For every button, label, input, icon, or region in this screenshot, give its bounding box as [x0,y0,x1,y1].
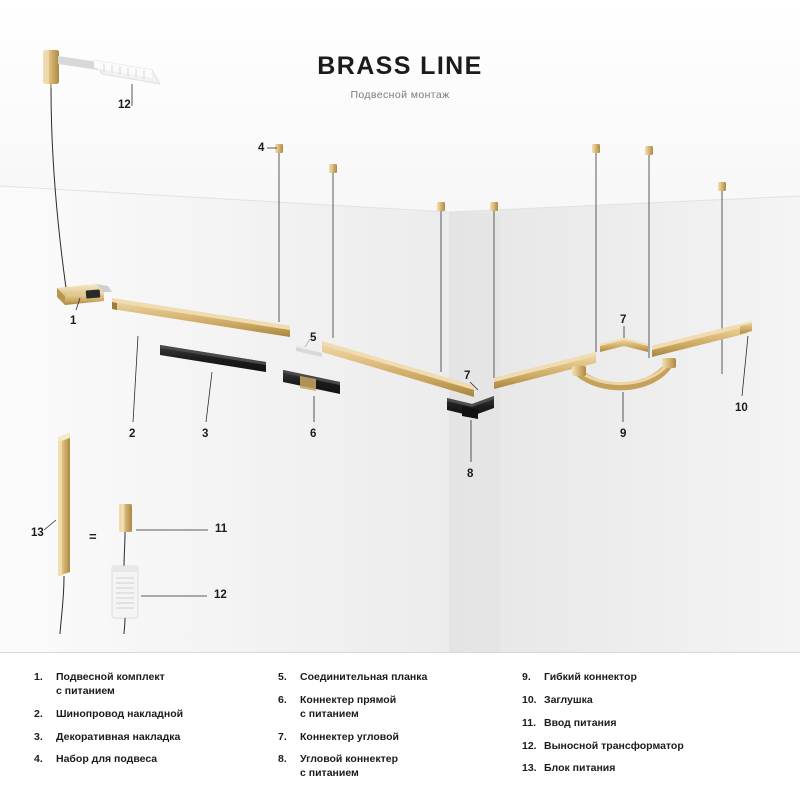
legend-num-10: 10. [522,694,544,708]
legend-num-9: 9. [522,671,544,685]
legend-column-3: 9. Гибкий коннектор 10. Заглушка 11. Вво… [522,671,766,800]
legend-text-4: Набор для подвеса [56,753,157,767]
legend-column-1: 1. Подвесной комплект с питанием 2. Шино… [34,671,278,800]
legend-num-6: 6. [278,694,300,708]
legend-num-8: 8. [278,753,300,767]
legend-text-8: Угловой коннектер с питанием [300,753,398,781]
callout-4: 4 [258,143,264,155]
legend-text-5: Соединительная планка [300,671,427,685]
legend-item-4: 4. Набор для подвеса [34,753,278,767]
legend-item-9: 9. Гибкий коннектор [522,671,766,685]
callout-8: 8 [467,469,473,481]
legend-text-7: Коннектер угловой [300,731,399,745]
callout-6: 6 [310,429,316,441]
callout-9: 9 [620,429,626,441]
legend-num-11: 11. [522,717,544,731]
callout-10: 10 [735,403,748,415]
callout-12-top: 12 [118,100,131,112]
legend-item-11: 11. Ввод питания [522,717,766,731]
callout-5: 5 [310,333,316,345]
legend-num-2: 2. [34,708,56,722]
legend-text-1: Подвесной комплект с питанием [56,671,165,699]
legend-text-10: Заглушка [544,694,593,708]
callout-12-bottom: 12 [214,590,227,602]
legend-item-5: 5. Соединительная планка [278,671,522,685]
legend-item-10: 10. Заглушка [522,694,766,708]
legend-num-5: 5. [278,671,300,685]
legend-item-12: 12. Выносной трансформатор [522,740,766,754]
equals-sign: = [89,529,97,544]
callout-13: 13 [31,528,44,540]
callout-3: 3 [202,429,208,441]
legend-text-13: Блок питания [544,762,615,776]
legend-num-12: 12. [522,740,544,754]
legend-text-6: Коннектер прямой с питанием [300,694,396,722]
legend-text-9: Гибкий коннектор [544,671,637,685]
legend-item-13: 13. Блок питания [522,762,766,776]
callout-11: 11 [215,524,227,536]
legend: 1. Подвесной комплект с питанием 2. Шино… [0,652,800,800]
callout-7-left: 7 [464,371,470,383]
legend-item-7: 7. Коннектер угловой [278,731,522,745]
room-geometry [0,0,800,652]
legend-column-2: 5. Соединительная планка 6. Коннектер пр… [278,671,522,800]
scene-svg [0,0,800,652]
legend-num-1: 1. [34,671,56,685]
legend-num-7: 7. [278,731,300,745]
legend-item-8: 8. Угловой коннектер с питанием [278,753,522,781]
legend-item-3: 3. Декоративная накладка [34,731,278,745]
legend-item-1: 1. Подвесной комплект с питанием [34,671,278,699]
legend-text-3: Декоративная накладка [56,731,180,745]
legend-num-4: 4. [34,753,56,767]
legend-text-11: Ввод питания [544,717,616,731]
callout-2: 2 [129,429,135,441]
legend-text-2: Шинопровод накладной [56,708,183,722]
room-scene [0,0,800,652]
legend-text-12: Выносной трансформатор [544,740,684,754]
diagram-page: BRASS LINE Подвесной монтаж 12 4 1 5 7 7… [0,0,800,800]
legend-item-6: 6. Коннектер прямой с питанием [278,694,522,722]
callout-7-right: 7 [620,315,626,327]
legend-item-2: 2. Шинопровод накладной [34,708,278,722]
legend-num-13: 13. [522,762,544,776]
legend-num-3: 3. [34,731,56,745]
callout-1: 1 [70,316,76,328]
